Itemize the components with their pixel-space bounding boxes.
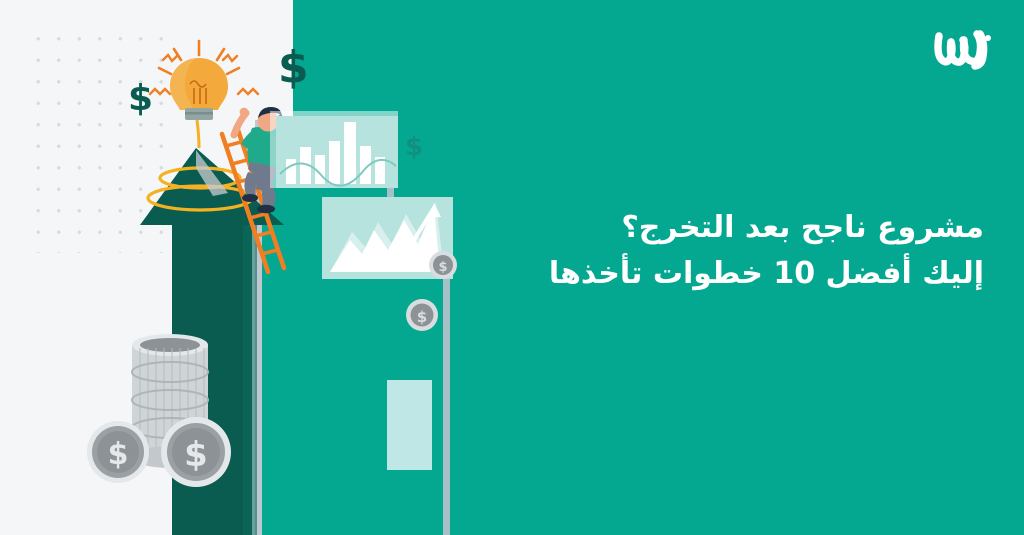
staircase-step-4-highlight bbox=[387, 380, 432, 470]
logo-dot bbox=[985, 35, 991, 41]
person-hand bbox=[240, 108, 249, 117]
person-shoe-back bbox=[242, 194, 258, 202]
page-title: مشروع ناجح بعد التخرج؟ إليك أفضل 10 خطوا… bbox=[404, 205, 984, 296]
floating-coin-lower: $ bbox=[406, 299, 438, 331]
growth-arrow-shade bbox=[243, 225, 257, 535]
headline-line-1: مشروع ناجح بعد التخرج؟ bbox=[621, 210, 984, 245]
dollar-sign-left: $ bbox=[128, 78, 153, 119]
dollar-sign-top: $ bbox=[278, 42, 309, 93]
lightbulb-idea-icon bbox=[150, 41, 258, 148]
bar-chart-card bbox=[270, 111, 398, 188]
svg-text:$: $ bbox=[184, 435, 208, 475]
lightbulb-base-ring bbox=[185, 112, 213, 115]
headline-line-2: إليك أفضل 10 خطوات تأخذها bbox=[404, 251, 984, 297]
promo-banner: $ $ $ $ $ bbox=[0, 0, 1024, 535]
svg-text:$: $ bbox=[108, 437, 129, 472]
wuzzuf-arabic-script-logo[interactable] bbox=[928, 20, 1000, 78]
logo-mark bbox=[928, 20, 1000, 78]
lightbulb-stem bbox=[197, 120, 199, 148]
dollar-sign-mid: $ bbox=[405, 132, 423, 162]
coin-stack-coin-left: $ bbox=[87, 421, 149, 483]
coin-stack-coin-right: $ bbox=[161, 417, 231, 487]
person-shoe-front bbox=[257, 205, 275, 213]
svg-text:$: $ bbox=[417, 308, 427, 326]
